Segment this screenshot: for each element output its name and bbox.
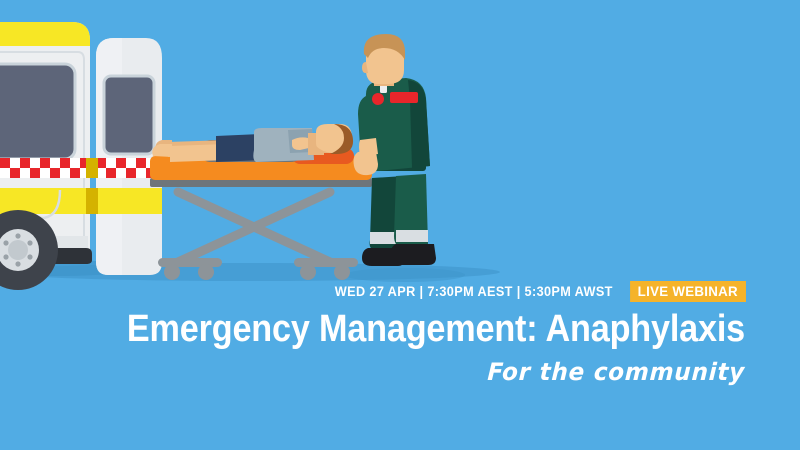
ambulance-battenburg-stripe [0,158,90,178]
rear-door-highlight [96,38,122,275]
door-gap-checker-fill [86,158,98,178]
paramedic-shoulder-badge [372,93,384,105]
page-subtitle: For the community [72,358,745,386]
paramedic-front-leg-reflector [396,230,428,242]
status-badge: LIVE WEBINAR [630,281,745,302]
meta-row: WED 27 APR | 7:30PM AEST | 5:30PM AWST L… [45,280,745,302]
paramedic-front-boot [390,244,436,265]
ambulance [0,22,92,290]
rear-door-side-stripe [96,188,162,214]
door-gap-stripe-fill [86,188,98,214]
promo-text-block: WED 27 APR | 7:30PM AEST | 5:30PM AWST L… [45,280,745,386]
page-title: Emergency Management: Anaphylaxis [115,309,745,349]
webinar-promo-banner: WED 27 APR | 7:30PM AEST | 5:30PM AWST L… [0,0,800,450]
ambulance-roof-stripe [0,22,90,46]
ambulance-rear-door [86,38,162,275]
rear-door-window [104,76,154,154]
ambulance-window [0,64,75,159]
ambulance-side-stripe [0,188,90,214]
paramedic-arm-patch [390,92,418,103]
paramedic-hand [354,152,379,175]
webinar-datetime: WED 27 APR | 7:30PM AEST | 5:30PM AWST [334,284,612,299]
